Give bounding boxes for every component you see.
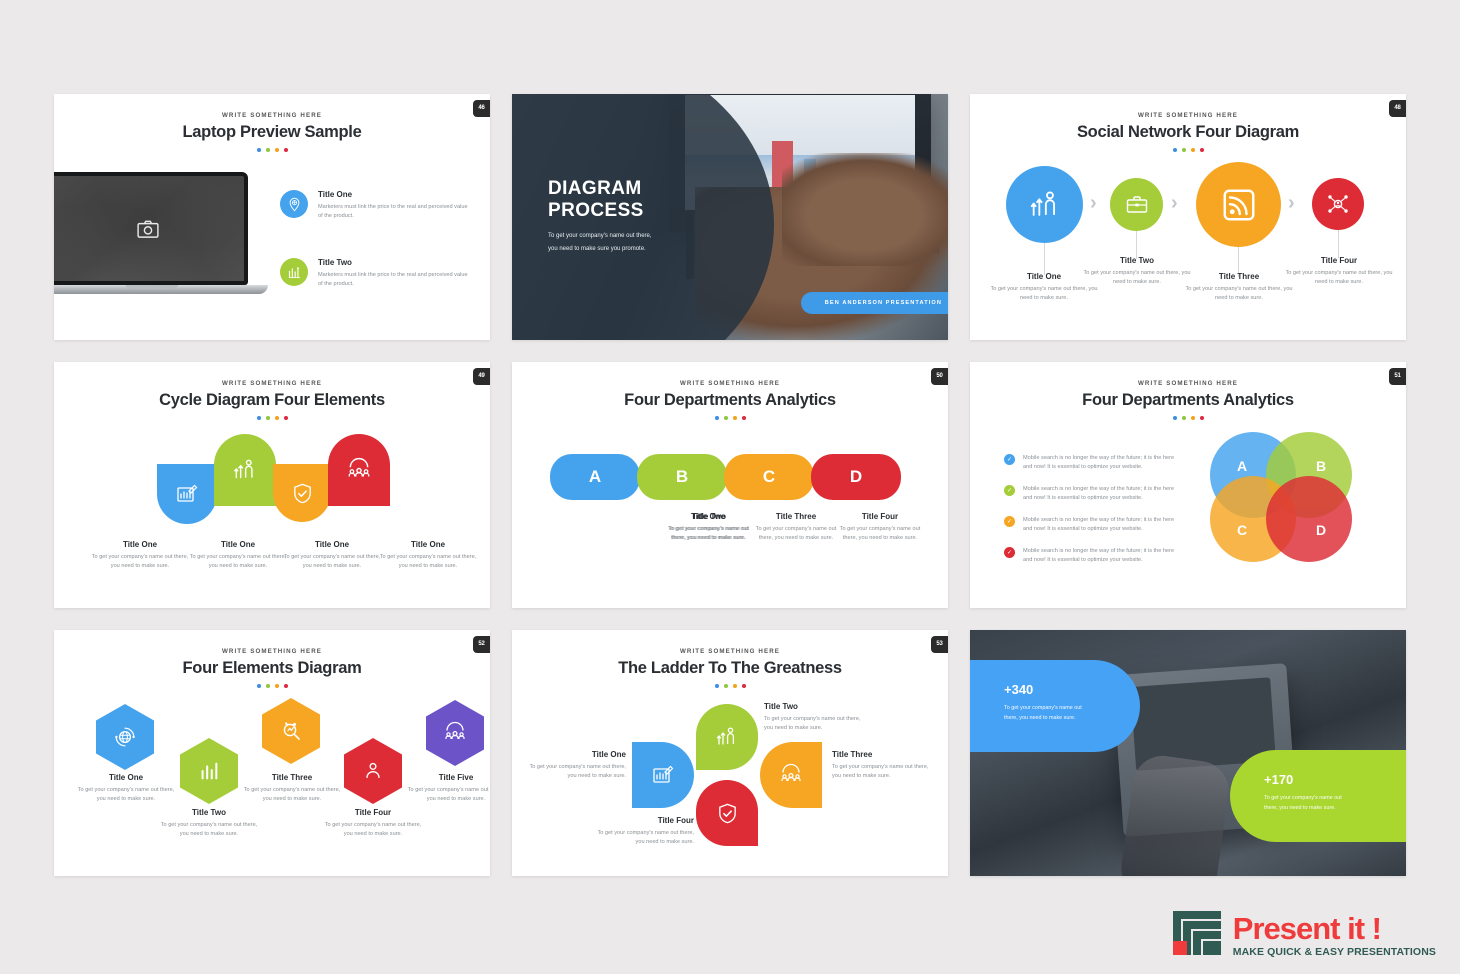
department-title: Title Two [661, 512, 757, 521]
venn-bullet-item[interactable]: ✓ Mobile search is no longer the way of … [1004, 516, 1184, 534]
slide-eyebrow: WRITE SOMETHING HERE [970, 112, 1406, 119]
venn-bullet-item[interactable]: ✓ Mobile search is no longer the way of … [1004, 485, 1184, 503]
hex-title: Title Three [242, 773, 342, 782]
hex-caption: Title Two To get your company's name out… [159, 808, 259, 839]
venn-bullet-item[interactable]: ✓ Mobile search is no longer the way of … [1004, 547, 1184, 565]
department-caption: Title Three To get your company's name o… [748, 512, 844, 543]
slide-title: Four Elements Diagram [54, 659, 490, 678]
presentation-author-button[interactable]: BEN ANDERSON PRESENTATION [801, 292, 948, 314]
slide-grid: 46 WRITE SOMETHING HERE Laptop Preview S… [54, 94, 1408, 876]
stat-value: +170 [1264, 772, 1406, 787]
slide-number-badge: 52 [473, 636, 490, 653]
accent-dots [970, 148, 1406, 152]
slide-four-elements-hexagons[interactable]: 52 WRITE SOMETHING HERE Four Elements Di… [54, 630, 490, 876]
department-pill-a[interactable]: A [550, 454, 640, 500]
slide-social-network-four-diagram[interactable]: 48 WRITE SOMETHING HERE Social Network F… [970, 94, 1406, 340]
accent-dots [512, 416, 948, 420]
present-it-logo: Present it ! MAKE QUICK & EASY PRESENTAT… [1169, 907, 1436, 964]
shield-check-icon[interactable] [273, 464, 331, 522]
feature-text: Marketers must link the price to the rea… [318, 203, 470, 221]
logo-sub-text: MAKE QUICK & EASY PRESENTATIONS [1233, 946, 1436, 958]
location-pin-icon [280, 190, 308, 218]
slide-four-departments-pills[interactable]: 50 WRITE SOMETHING HERE Four Departments… [512, 362, 948, 608]
hex-title: Title Five [406, 773, 490, 782]
element-caption: Title One To get your company's name out… [90, 540, 190, 571]
node-title: Title Four [1284, 256, 1394, 265]
element-title: Title One [90, 540, 190, 549]
hex-title: Title Four [323, 808, 423, 817]
slide-title: Cycle Diagram Four Elements [54, 391, 490, 410]
slide-title: Four Departments Analytics [512, 391, 948, 410]
chevron-right-icon: › [1090, 192, 1097, 215]
check-icon: ✓ [1004, 516, 1015, 527]
ladder-title: Title One [528, 750, 626, 759]
hex-text: To get your company's name out there, yo… [406, 786, 490, 804]
slide-eyebrow: WRITE SOMETHING HERE [512, 648, 948, 655]
department-title: Title Three [748, 512, 844, 521]
slide-number-badge: 46 [473, 100, 490, 117]
department-title: Title Four [832, 512, 928, 521]
feature-title: Title Two [318, 258, 470, 267]
department-caption: Title Two To get your company's name out… [661, 512, 757, 543]
ladder-title: Title Two [764, 702, 868, 711]
venn-bullet-item[interactable]: ✓ Mobile search is no longer the way of … [1004, 454, 1184, 472]
ladder-text: To get your company's name out there, yo… [764, 715, 868, 733]
slide-eyebrow: WRITE SOMETHING HERE [54, 648, 490, 655]
slide-number-badge: 48 [1389, 100, 1406, 117]
stat-text-line2: there, you need to make sure. [1004, 713, 1140, 723]
bar-chart-icon[interactable] [180, 738, 238, 804]
hero-heading-line1: DIAGRAM [548, 178, 652, 200]
logo-mark-icon [1169, 907, 1225, 964]
department-text: To get your company's name out there, yo… [832, 525, 928, 543]
accent-dots [54, 684, 490, 688]
team-group-icon[interactable] [328, 434, 390, 506]
slide-eyebrow: WRITE SOMETHING HERE [54, 112, 490, 119]
feature-item[interactable]: Title Two Marketers must link the price … [280, 258, 470, 289]
stat-text-line1: To get your company's name out [1264, 793, 1406, 803]
hex-caption: Title Five To get your company's name ou… [406, 773, 490, 804]
node-caption: Title Four To get your company's name ou… [1284, 256, 1394, 287]
slide-title: Laptop Preview Sample [54, 123, 490, 142]
accent-dots [54, 416, 490, 420]
hex-caption: Title Four To get your company's name ou… [323, 808, 423, 839]
slide-number-badge: 50 [931, 368, 948, 385]
venn-bullet-text: Mobile search is no longer the way of th… [1023, 516, 1184, 534]
ladder-text: To get your company's name out there, yo… [528, 763, 626, 781]
slide-title: Social Network Four Diagram [970, 123, 1406, 142]
node-title: Title Two [1082, 256, 1192, 265]
department-pill-d[interactable]: D [811, 454, 901, 500]
slide-laptop-preview[interactable]: 46 WRITE SOMETHING HERE Laptop Preview S… [54, 94, 490, 340]
chevron-right-icon: › [1171, 192, 1178, 215]
stat-card-blue[interactable]: +340 To get your company's name out ther… [970, 660, 1140, 752]
accent-dots [512, 684, 948, 688]
team-group-icon[interactable] [426, 700, 484, 766]
element-title: Title One [378, 540, 478, 549]
department-caption: Title Four To get your company's name ou… [832, 512, 928, 543]
node-caption: Title Two To get your company's name out… [1082, 256, 1192, 287]
node-text: To get your company's name out there, yo… [1082, 269, 1192, 287]
slide-title: The Ladder To The Greatness [512, 659, 948, 678]
node-text: To get your company's name out there, yo… [1184, 285, 1294, 303]
element-caption: Title One To get your company's name out… [282, 540, 382, 571]
element-text: To get your company's name out there, yo… [378, 553, 478, 571]
hex-text: To get your company's name out there, yo… [76, 786, 176, 804]
venn-diagram: A B C D [1210, 432, 1370, 572]
hex-text: To get your company's name out there, yo… [242, 786, 342, 804]
growth-person-icon[interactable] [214, 434, 276, 506]
slide-ladder-to-greatness[interactable]: 53 WRITE SOMETHING HERE The Ladder To Th… [512, 630, 948, 876]
check-icon: ✓ [1004, 485, 1015, 496]
growth-person-icon[interactable] [1006, 166, 1083, 243]
slide-eyebrow: WRITE SOMETHING HERE [512, 380, 948, 387]
feature-item[interactable]: Title One Marketers must link the price … [280, 190, 470, 221]
slide-photo-stats[interactable]: +340 To get your company's name out ther… [970, 630, 1406, 876]
department-text: To get your company's name out there, yo… [661, 525, 757, 543]
stat-text-line2: there, you need to make sure. [1264, 803, 1406, 813]
hero-paragraph-line1: To get your company's name out there, [548, 231, 652, 242]
stat-text-line1: To get your company's name out [1004, 703, 1140, 713]
growth-person-icon[interactable] [696, 704, 758, 770]
check-icon: ✓ [1004, 454, 1015, 465]
logo-main-text: Present it ! [1233, 913, 1436, 944]
hex-text: To get your company's name out there, yo… [323, 821, 423, 839]
venn-bullet-text: Mobile search is no longer the way of th… [1023, 485, 1184, 503]
ladder-text: To get your company's name out there, yo… [588, 829, 694, 847]
element-title: Title One [282, 540, 382, 549]
slide-title: Four Departments Analytics [970, 391, 1406, 410]
user-person-icon[interactable] [344, 738, 402, 804]
node-text: To get your company's name out there, yo… [988, 285, 1100, 303]
slide-number-badge: 51 [1389, 368, 1406, 385]
ladder-caption: Title Two To get your company's name out… [764, 702, 868, 733]
slide-diagram-process-hero[interactable]: DIAGRAM PROCESS To get your company's na… [512, 94, 948, 340]
slide-cycle-diagram-four-elements[interactable]: 49 WRITE SOMETHING HERE Cycle Diagram Fo… [54, 362, 490, 608]
venn-bullet-text: Mobile search is no longer the way of th… [1023, 547, 1184, 565]
hero-paragraph-line2: you need to make sure you promote. [548, 244, 652, 255]
slide-eyebrow: WRITE SOMETHING HERE [54, 380, 490, 387]
slide-number-badge: 49 [473, 368, 490, 385]
node-caption: Title Three To get your company's name o… [1184, 272, 1294, 303]
department-pill-b[interactable]: B [637, 454, 727, 500]
search-analysis-icon[interactable] [262, 698, 320, 764]
ladder-text: To get your company's name out there, yo… [832, 763, 930, 781]
check-icon: ✓ [1004, 547, 1015, 558]
ladder-title: Title Four [588, 816, 694, 825]
department-pill-c[interactable]: C [724, 454, 814, 500]
hero-heading-line2: PROCESS [548, 200, 652, 222]
stat-value: +340 [1004, 682, 1140, 697]
venn-circle-d[interactable]: D [1266, 476, 1352, 562]
node-title: Title Three [1184, 272, 1294, 281]
chart-pen-icon[interactable] [632, 742, 694, 808]
laptop-mockup [54, 172, 262, 312]
hero-text-block: DIAGRAM PROCESS To get your company's na… [548, 178, 652, 256]
department-text: To get your company's name out there, yo… [748, 525, 844, 543]
chart-pen-icon[interactable] [157, 464, 217, 524]
stat-card-green[interactable]: +170 To get your company's name out ther… [1230, 750, 1406, 842]
node-text: To get your company's name out there, yo… [1284, 269, 1394, 287]
slide-eyebrow: WRITE SOMETHING HERE [970, 380, 1406, 387]
hex-caption: Title Three To get your company's name o… [242, 773, 342, 804]
ladder-caption: Title Three To get your company's name o… [832, 750, 930, 781]
ladder-title: Title Three [832, 750, 930, 759]
team-group-icon[interactable] [760, 742, 822, 808]
element-title: Title One [188, 540, 288, 549]
hex-title: Title One [76, 773, 176, 782]
feature-title: Title One [318, 190, 470, 199]
hex-caption: Title One To get your company's name out… [76, 773, 176, 804]
ladder-caption: Title Four To get your company's name ou… [588, 816, 694, 847]
element-caption: Title One To get your company's name out… [378, 540, 478, 571]
venn-bullet-text: Mobile search is no longer the way of th… [1023, 454, 1184, 472]
rss-feed-icon[interactable] [1196, 162, 1281, 247]
element-caption: Title One To get your company's name out… [188, 540, 288, 571]
shield-check-icon[interactable] [696, 780, 758, 846]
hex-title: Title Two [159, 808, 259, 817]
slide-four-departments-venn[interactable]: 51 WRITE SOMETHING HERE Four Departments… [970, 362, 1406, 608]
briefcase-icon[interactable] [1110, 178, 1163, 231]
camera-placeholder-icon [137, 220, 159, 238]
accent-dots [970, 416, 1406, 420]
network-nodes-icon[interactable] [1312, 178, 1364, 230]
bar-chart-icon [280, 258, 308, 286]
ladder-caption: Title One To get your company's name out… [528, 750, 626, 781]
element-text: To get your company's name out there, yo… [188, 553, 288, 571]
element-text: To get your company's name out there, yo… [90, 553, 190, 571]
slide-number-badge: 53 [931, 636, 948, 653]
chevron-right-icon: › [1288, 192, 1295, 215]
element-text: To get your company's name out there, yo… [282, 553, 382, 571]
globe-network-icon[interactable] [96, 704, 154, 770]
hex-text: To get your company's name out there, yo… [159, 821, 259, 839]
feature-text: Marketers must link the price to the rea… [318, 271, 470, 289]
accent-dots [54, 148, 490, 152]
